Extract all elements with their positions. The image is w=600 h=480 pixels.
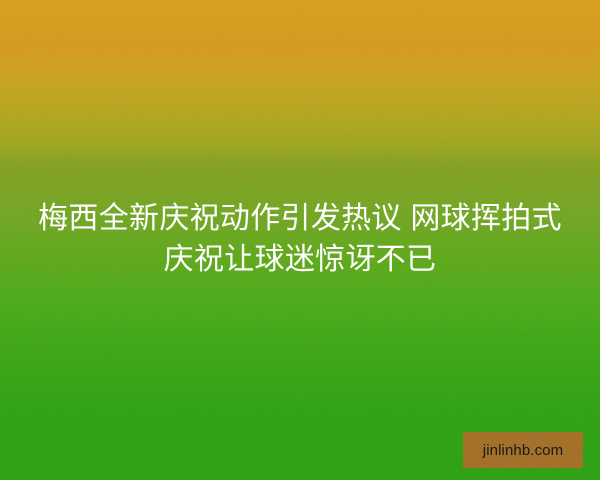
watermark-label: jinlinhb.com	[483, 443, 563, 458]
image-canvas: 梅西全新庆祝动作引发热议 网球挥拍式 庆祝让球迷惊讶不已 jinlinhb.co…	[0, 0, 600, 480]
watermark-badge: jinlinhb.com	[463, 432, 583, 468]
headline-text: 梅西全新庆祝动作引发热议 网球挥拍式 庆祝让球迷惊讶不已	[0, 198, 600, 280]
